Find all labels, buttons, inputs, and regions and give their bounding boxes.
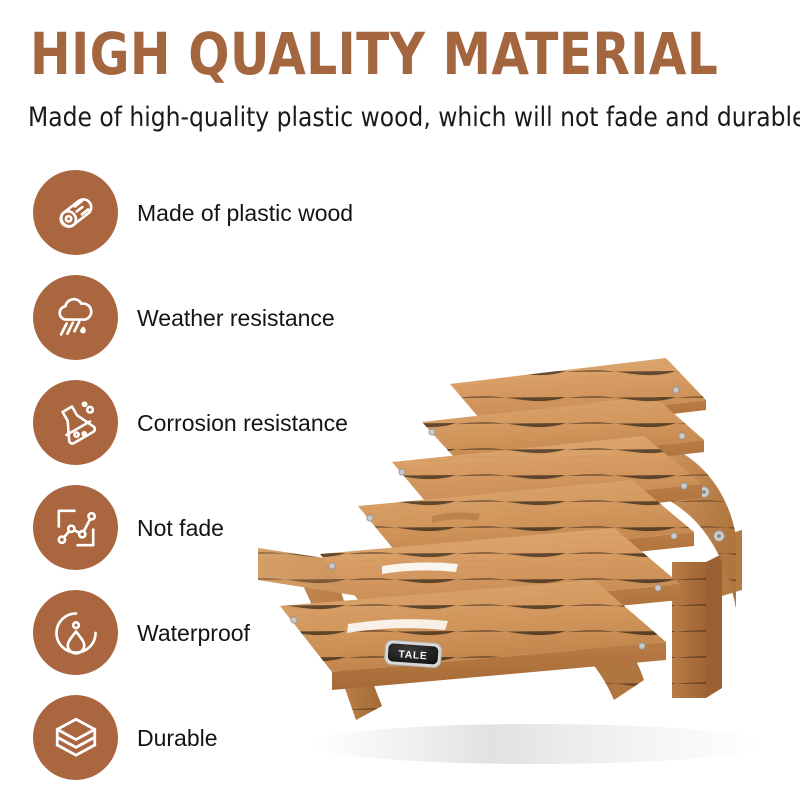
product-shadow bbox=[306, 724, 766, 764]
product-image: TALE bbox=[236, 340, 800, 790]
product-leg-back bbox=[672, 554, 722, 698]
feature-label: Waterproof bbox=[137, 619, 250, 647]
brand-badge-text: TALE bbox=[398, 648, 428, 662]
feature-label: Durable bbox=[137, 724, 218, 752]
rain-cloud-icon bbox=[33, 275, 118, 360]
water-drop-icon bbox=[33, 590, 118, 675]
brand-badge: TALE bbox=[384, 640, 442, 668]
infographic-page: HIGH QUALITY MATERIAL Made of high-quali… bbox=[0, 0, 800, 800]
feature-label: Not fade bbox=[137, 514, 224, 542]
flask-icon bbox=[33, 380, 118, 465]
page-subtitle: Made of high-quality plastic wood, which… bbox=[28, 102, 758, 134]
feature-item: Made of plastic wood bbox=[0, 160, 420, 265]
feature-label: Made of plastic wood bbox=[137, 199, 353, 227]
layers-icon bbox=[33, 695, 118, 780]
log-icon bbox=[33, 170, 118, 255]
feature-label: Weather resistance bbox=[137, 304, 335, 332]
line-chart-icon bbox=[33, 485, 118, 570]
page-title: HIGH QUALITY MATERIAL bbox=[30, 24, 718, 84]
